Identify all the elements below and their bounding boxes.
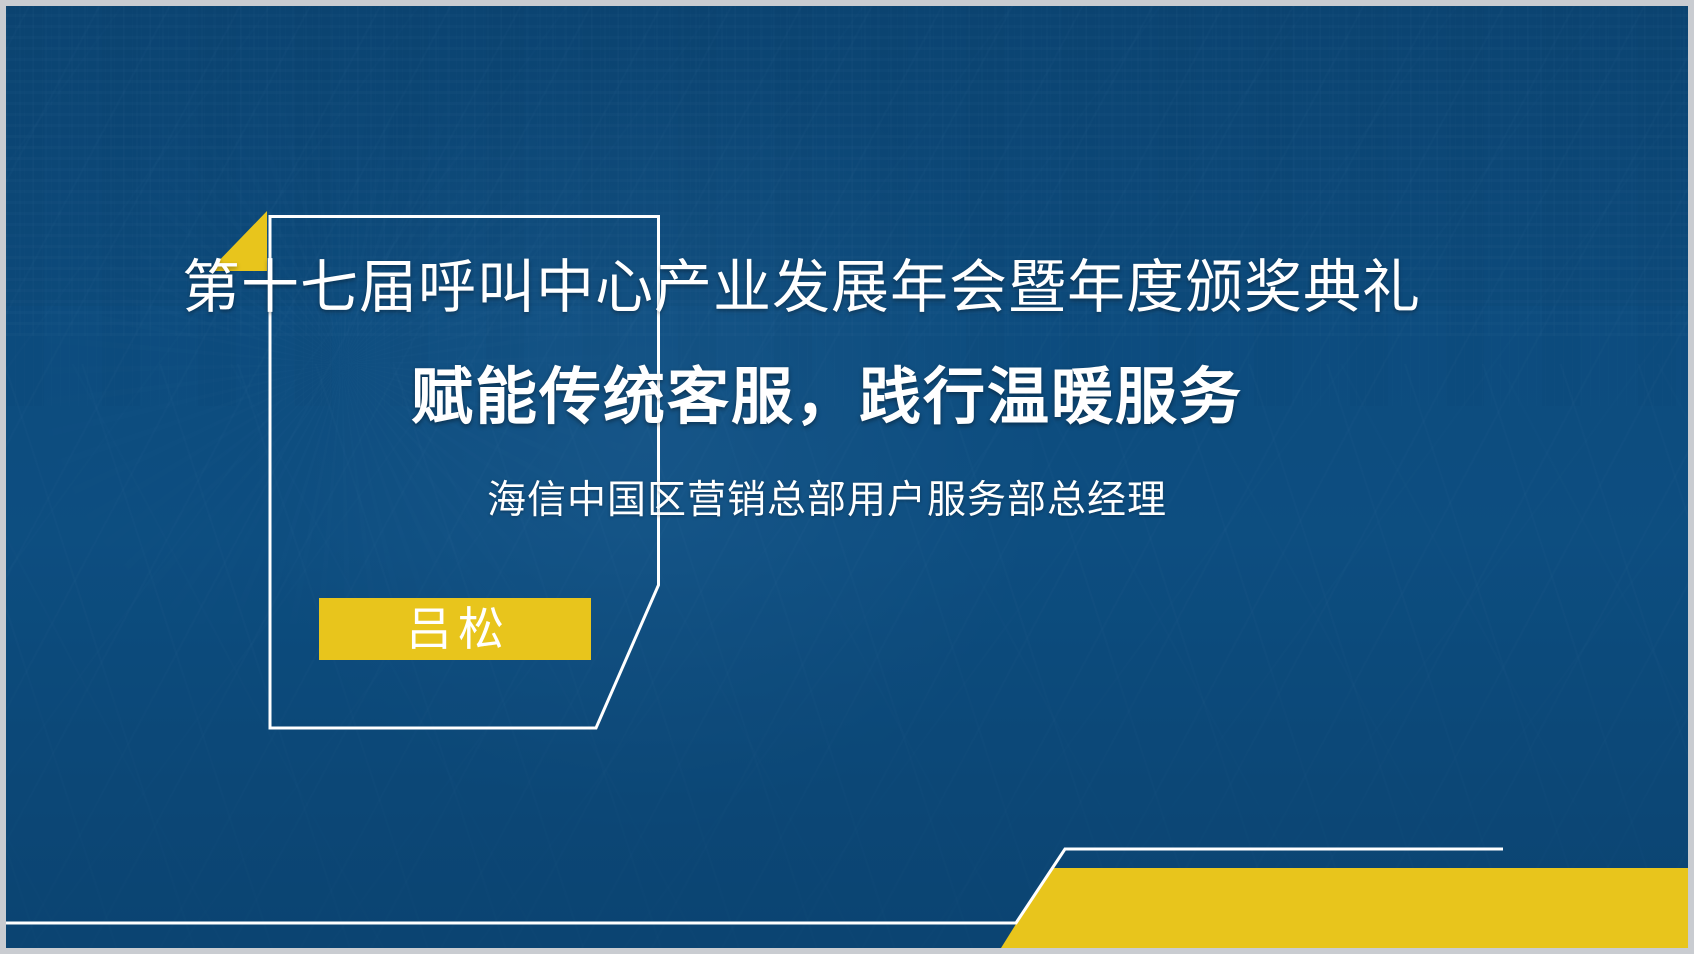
title-slide: 第十七届呼叫中心产业发展年会暨年度颁奖典礼 赋能传统客服，践行温暖服务 海信中国… — [0, 0, 1694, 954]
event-title: 第十七届呼叫中心产业发展年会暨年度颁奖典礼 — [182, 258, 1472, 316]
speaker-name-badge: 吕松 — [319, 598, 591, 660]
speaker-name-label: 吕松 — [400, 606, 510, 652]
bottom-yellow-bar — [1001, 868, 1688, 948]
speaker-role: 海信中国区营销总部用户服务部总经理 — [182, 481, 1472, 520]
topic-title: 赋能传统客服，践行温暖服务 — [182, 366, 1472, 428]
bottom-decoration — [6, 758, 1688, 948]
